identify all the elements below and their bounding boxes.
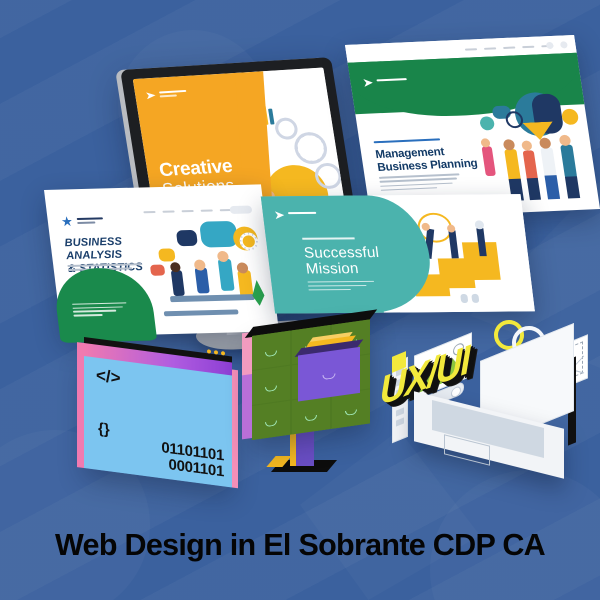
code-tag-icon: </> [96,366,121,389]
open-drawer[interactable] [298,347,360,402]
meeting-table [170,294,255,302]
cabinet-neck [296,430,314,466]
speech-bubble [158,248,176,261]
green-blob-text [72,302,128,318]
person-figure [448,231,458,259]
drawer[interactable] [252,401,290,440]
window-right-edge [232,369,238,488]
brand-logo [275,210,320,219]
person-head [217,251,229,262]
speech-bubble [150,265,165,276]
uxui-laptop-scene[interactable]: UX/UI [392,318,582,486]
illustration-dot [479,116,495,130]
brand-logo [61,215,106,226]
person-head [446,225,455,233]
mission-heading: SuccessfulMission [303,245,428,278]
person-head [194,259,206,270]
person-head [170,262,181,272]
team-illustration [474,91,590,202]
mission-heading-line1: Successful [303,244,380,262]
page-title: Web Design in El Sobrante CDP CA [0,518,600,572]
person-legs [565,176,580,198]
brand-logo [146,89,189,99]
mission-heading-line2: Mission [305,260,360,277]
avatar[interactable] [560,41,568,48]
business-analysis-card[interactable]: BUSINESS ANALYSIS& STATISTICS [44,184,279,337]
binary-text: 01101101 0001101 [161,440,224,480]
person-figure [560,145,577,179]
gear-icon [273,117,299,140]
successful-mission-card[interactable]: SuccessfulMission [261,194,535,313]
page-title-text: Web Design in El Sobrante CDP CA [55,518,545,572]
search-input[interactable] [229,205,252,214]
window-left-edge [77,342,84,468]
speech-bubble [176,230,198,246]
management-heading: ManagementBusiness Planning [375,144,489,174]
file-cabinet[interactable] [252,319,370,440]
management-paragraph [379,173,462,194]
meeting-illustration [145,218,270,324]
poster-canvas: Creative Solutions Digital Web Agency Te… [0,0,600,600]
code-window-body: </> {} 01101101 0001101 [84,356,232,487]
nav-menu-placeholder[interactable] [143,209,232,213]
search-icon[interactable] [546,42,554,49]
card-eyebrow-rule [374,138,441,143]
illustration-dot [561,109,579,126]
chart-bar [268,109,275,125]
person-head [474,220,484,229]
person-figure [218,259,235,291]
management-business-planning-card[interactable]: ManagementBusiness Planning [345,35,600,219]
person-legs [544,175,560,199]
mission-paragraph [308,281,376,293]
person-figure [171,270,185,296]
code-browser-window[interactable]: </> {} 01101101 0001101 [84,356,232,487]
curly-braces-icon: {} [98,420,110,439]
pagination-dots[interactable] [460,294,479,303]
person-figure [195,267,210,293]
person-head [521,140,533,150]
ba-heading-line1: BUSINESS ANALYSIS [64,236,123,262]
person-head [236,262,248,273]
gear-icon [292,131,329,165]
drawer[interactable] [252,366,290,405]
drawer[interactable] [252,331,290,370]
person-legs [527,178,541,200]
cabinet-left-accent [242,332,252,375]
person-head [421,223,430,231]
